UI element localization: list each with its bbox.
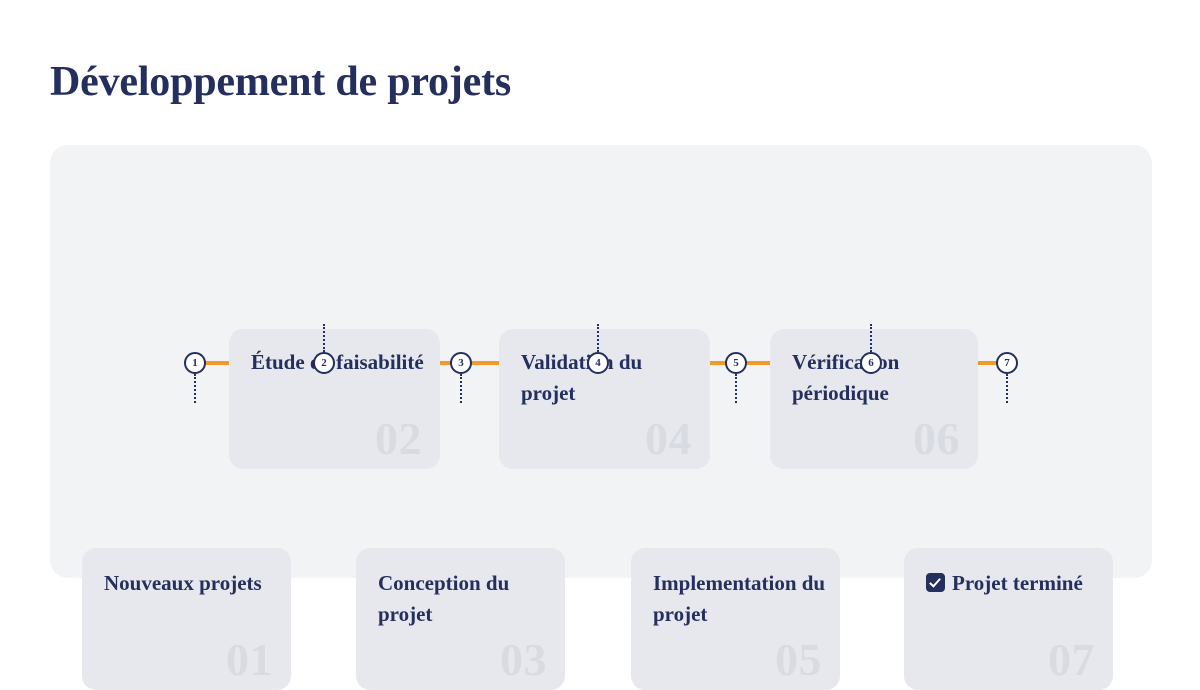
connector-05 (735, 374, 737, 403)
step-card-02-label: Étude de faisabilité (251, 347, 426, 378)
connector-03 (460, 374, 462, 403)
connector-07 (1006, 374, 1008, 403)
timeline-marker-4[interactable]: 4 (587, 352, 609, 374)
step-card-07[interactable]: Projet terminé 07 (904, 548, 1113, 690)
step-card-05-label: Implementation du projet (653, 568, 826, 630)
timeline-marker-3[interactable]: 3 (450, 352, 472, 374)
step-card-02-number: 02 (375, 411, 422, 467)
connector-02 (323, 324, 325, 352)
step-card-05-number: 05 (775, 632, 822, 688)
timeline-marker-7[interactable]: 7 (996, 352, 1018, 374)
connector-06 (870, 324, 872, 352)
page-title: Développement de projets (50, 56, 511, 108)
step-card-02[interactable]: Étude de faisabilité 02 (229, 329, 440, 469)
step-card-01-label: Nouveaux projets (104, 568, 277, 599)
timeline-marker-5[interactable]: 5 (725, 352, 747, 374)
connector-04 (597, 324, 599, 352)
step-card-03-label: Conception du projet (378, 568, 551, 630)
step-card-07-text: Projet terminé (952, 571, 1083, 595)
timeline-marker-6[interactable]: 6 (860, 352, 882, 374)
step-card-06[interactable]: Vérification périodique 06 (770, 329, 978, 469)
step-card-04[interactable]: Validation du projet 04 (499, 329, 710, 469)
step-card-05[interactable]: Implementation du projet 05 (631, 548, 840, 690)
checkbox-checked-icon (926, 573, 945, 592)
step-card-07-number: 07 (1048, 632, 1095, 688)
step-card-04-number: 04 (645, 411, 692, 467)
timeline-marker-1[interactable]: 1 (184, 352, 206, 374)
timeline-marker-2[interactable]: 2 (313, 352, 335, 374)
step-card-06-number: 06 (913, 411, 960, 467)
step-card-03[interactable]: Conception du projet 03 (356, 548, 565, 690)
step-card-04-label: Validation du projet (521, 347, 696, 409)
step-card-03-number: 03 (500, 632, 547, 688)
step-card-01[interactable]: Nouveaux projets 01 (82, 548, 291, 690)
step-card-07-label: Projet terminé (926, 568, 1099, 599)
connector-01 (194, 374, 196, 403)
step-card-01-number: 01 (226, 632, 273, 688)
